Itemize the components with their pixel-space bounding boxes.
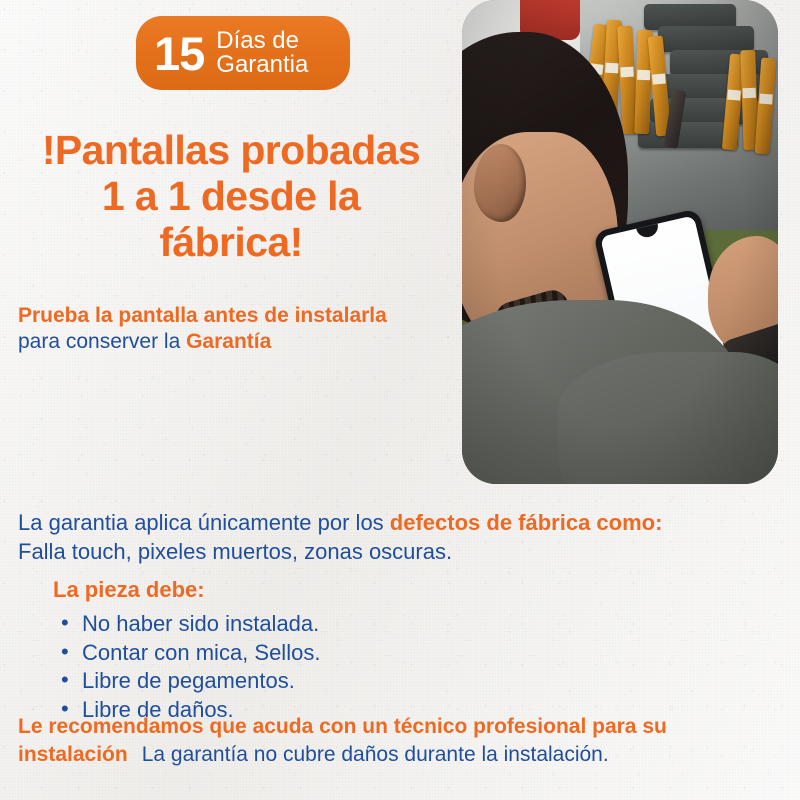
coverage-line-1-plain: La garantia aplica únicamente por los <box>18 510 390 535</box>
coverage-line-1: La garantia aplica únicamente por los de… <box>18 508 782 537</box>
badge-number: 15 <box>154 30 204 77</box>
coverage-line-2: Falla touch, pixeles muertos, zonas oscu… <box>18 537 782 566</box>
headline-line-2: 1 a 1 desde la <box>0 174 462 220</box>
footer-line-2-accent: instalación <box>18 743 128 766</box>
subheading-warranty-accent: Garantía <box>186 330 271 353</box>
footer-line-1: Le recomendamos que acuda con un técnico… <box>18 713 788 741</box>
warranty-days-badge: 15 Días de Garantia <box>136 16 350 90</box>
badge-line-2: Garantia <box>216 53 308 77</box>
subheading-line-2: para conserver la Garantía <box>18 329 468 355</box>
requirements-list: No haber sido instalada. Contar con mica… <box>53 610 320 724</box>
footer-line-1-accent: Le recomendamos que acuda con un técnico… <box>18 715 667 738</box>
subheading: Prueba la pantalla antes de instalarla p… <box>18 303 468 355</box>
headline: !Pantallas probadas 1 a 1 desde la fábri… <box>0 128 462 266</box>
warranty-coverage-text: La garantia aplica únicamente por los de… <box>18 508 782 566</box>
headline-line-3: fábrica! <box>0 220 462 266</box>
badge-line-1: Días de <box>216 29 308 53</box>
requirements-block: La pieza debe: No haber sido instalada. … <box>53 577 320 724</box>
technician-photo <box>462 0 778 484</box>
photo-vignette <box>462 0 778 484</box>
footer-line-2-plain: La garantía no cubre daños durante la in… <box>142 743 609 766</box>
list-item: No haber sido instalada. <box>61 610 320 639</box>
coverage-line-1-accent: defectos de fábrica como: <box>390 510 663 535</box>
headline-line-1: !Pantallas probadas <box>0 128 462 174</box>
subheading-line-1: Prueba la pantalla antes de instalarla <box>18 303 468 329</box>
list-item: Contar con mica, Sellos. <box>61 639 320 668</box>
photo-inner <box>462 0 778 484</box>
list-item: Libre de pegamentos. <box>61 667 320 696</box>
promo-poster: 15 Días de Garantia <box>0 0 800 800</box>
installation-recommendation: Le recomendamos que acuda con un técnico… <box>18 713 788 769</box>
requirements-title: La pieza debe: <box>53 577 320 603</box>
footer-line-2: instalaciónLa garantía no cubre daños du… <box>18 741 788 769</box>
subheading-line-2-text: para conserver la <box>18 330 186 353</box>
badge-text: Días de Garantia <box>216 29 308 78</box>
